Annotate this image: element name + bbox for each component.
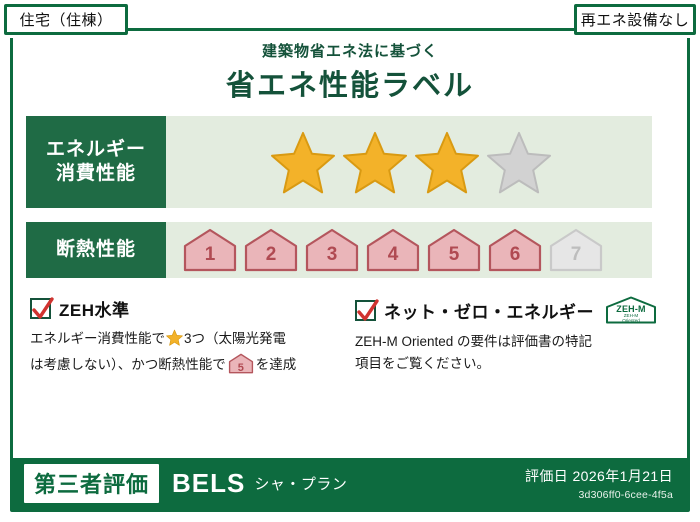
zeh-text-part2: 3つ（太陽光発電 bbox=[184, 331, 286, 346]
net-zero-energy-panel: ネット・ゼロ・エネルギー ZEH-M ZEH-MOriented ZEH-M O… bbox=[355, 296, 660, 376]
insulation-level-item: 5 bbox=[426, 227, 482, 273]
insulation-level-item: 4 bbox=[365, 227, 421, 273]
net-zero-text-line2: 項目をご覧ください。 bbox=[355, 356, 490, 371]
insulation-level-number: 7 bbox=[548, 244, 604, 266]
zeh-panel-header: ZEH水準 bbox=[30, 296, 330, 321]
checkbox-checked-icon bbox=[355, 300, 376, 321]
star-empty-icon bbox=[486, 130, 552, 194]
renewable-energy-tab: 再エネ設備なし bbox=[574, 4, 696, 35]
checkbox-checked-icon bbox=[30, 298, 51, 319]
inline-star-icon bbox=[166, 329, 183, 353]
zeh-text-part3: は考慮しない）、かつ断熱性能で bbox=[30, 357, 226, 372]
header-subtitle: 建築物省エネ法に基づく bbox=[0, 40, 700, 61]
energy-label-line2: 消費性能 bbox=[46, 162, 146, 186]
evaluation-id: 3d306ff0-6cee-4f5a bbox=[525, 489, 673, 501]
zeh-panel-title: ZEH水準 bbox=[59, 296, 130, 321]
building-type-text: 住宅（住棟） bbox=[19, 9, 112, 30]
zeh-text-part4: を達成 bbox=[256, 357, 297, 372]
insulation-level-item: 2 bbox=[243, 227, 299, 273]
footer-meta: 評価日 2026年1月21日 3d306ff0-6cee-4f5a bbox=[525, 466, 673, 501]
insulation-label-text: 断熱性能 bbox=[56, 238, 136, 262]
third-party-evaluation-badge: 第三者評価 bbox=[24, 464, 159, 503]
renewable-energy-text: 再エネ設備なし bbox=[581, 9, 690, 30]
insulation-levels-area: 1 2 3 4 bbox=[166, 222, 652, 278]
net-zero-panel-header: ネット・ゼロ・エネルギー ZEH-M ZEH-MOriented bbox=[355, 296, 660, 324]
energy-performance-label: 住宅（住棟） 再エネ設備なし 建築物省エネ法に基づく 省エネ性能ラベル エネルギ… bbox=[0, 0, 700, 522]
bels-logo-text: BELS bbox=[172, 468, 245, 499]
insulation-level-item-inactive: 7 bbox=[548, 227, 604, 273]
net-zero-panel-title: ネット・ゼロ・エネルギー bbox=[384, 298, 594, 323]
plan-name: シャ・プラン bbox=[254, 473, 347, 494]
net-zero-panel-text: ZEH-M Oriented の要件は評価書の特記 項目をご覧ください。 bbox=[355, 331, 660, 376]
insulation-level-item: 1 bbox=[182, 227, 238, 273]
energy-performance-label-box: エネルギー 消費性能 bbox=[26, 116, 166, 208]
insulation-level-item: 6 bbox=[487, 227, 543, 273]
inline-house-number: 5 bbox=[228, 359, 254, 377]
energy-performance-stars-area bbox=[166, 116, 652, 208]
insulation-level-number: 1 bbox=[182, 244, 238, 266]
evaluation-date: 評価日 2026年1月21日 bbox=[525, 468, 673, 484]
star-filled-icon bbox=[270, 130, 336, 194]
net-zero-text-line1: ZEH-M Oriented の要件は評価書の特記 bbox=[355, 334, 592, 349]
star-rating bbox=[270, 130, 552, 194]
insulation-level-number: 3 bbox=[304, 244, 360, 266]
zeh-m-badge-sub: ZEH-MOriented bbox=[604, 313, 658, 324]
footer-bar: 第三者評価 BELS シャ・プラン 評価日 2026年1月21日 3d306ff… bbox=[13, 458, 687, 509]
zeh-text-part1: エネルギー消費性能で bbox=[30, 331, 165, 346]
insulation-level-number: 6 bbox=[487, 244, 543, 266]
insulation-performance-row: 断熱性能 1 2 bbox=[26, 222, 652, 278]
insulation-level-scale: 1 2 3 4 bbox=[182, 227, 604, 273]
header-title: 省エネ性能ラベル bbox=[0, 62, 700, 104]
insulation-level-number: 2 bbox=[243, 244, 299, 266]
zeh-panel-text: エネルギー消費性能で3つ（太陽光発電 は考慮しない）、かつ断熱性能で5を達成 bbox=[30, 328, 330, 377]
insulation-level-number: 5 bbox=[426, 244, 482, 266]
insulation-level-number: 4 bbox=[365, 244, 421, 266]
zeh-m-badge-icon: ZEH-M ZEH-MOriented bbox=[604, 296, 658, 324]
star-filled-icon bbox=[414, 130, 480, 194]
insulation-level-item: 3 bbox=[304, 227, 360, 273]
insulation-performance-label-box: 断熱性能 bbox=[26, 222, 166, 278]
inline-house-icon: 5 bbox=[228, 353, 254, 374]
energy-performance-row: エネルギー 消費性能 bbox=[26, 116, 652, 208]
star-filled-icon bbox=[342, 130, 408, 194]
energy-label-line1: エネルギー bbox=[46, 138, 146, 162]
zeh-panel: ZEH水準 エネルギー消費性能で3つ（太陽光発電 は考慮しない）、かつ断熱性能で… bbox=[30, 296, 330, 377]
building-type-tab: 住宅（住棟） bbox=[4, 4, 128, 35]
